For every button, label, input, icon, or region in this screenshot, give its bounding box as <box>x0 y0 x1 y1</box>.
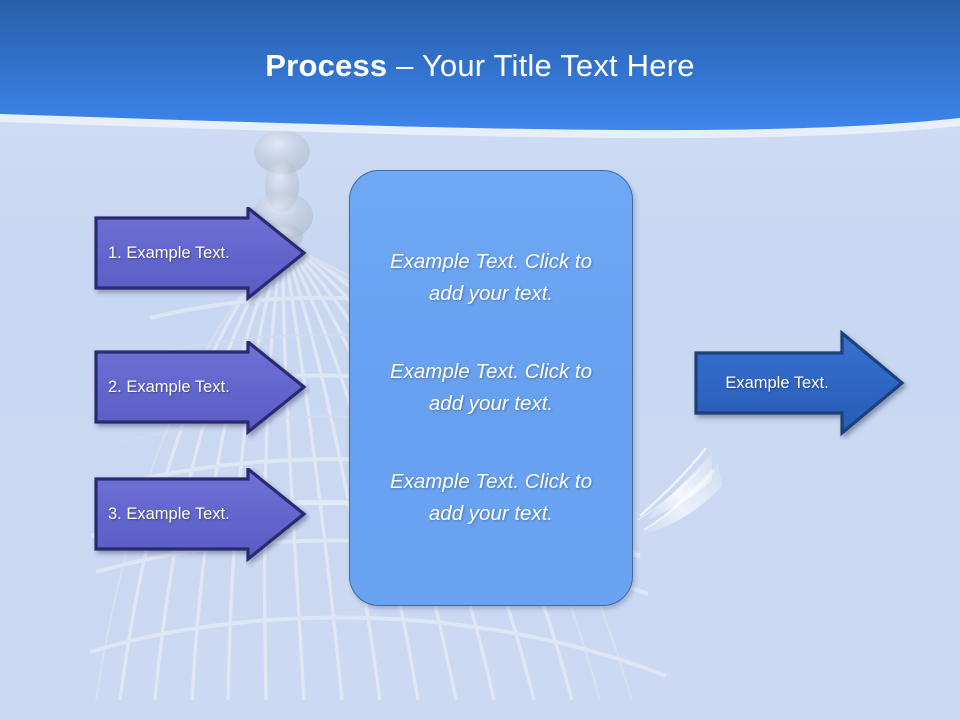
process-arrow-result[interactable]: Example Text. <box>690 330 910 440</box>
slide-canvas: Process – Your Title Text Here 1. Ex <box>0 0 960 720</box>
arrow-right-icon <box>90 207 310 307</box>
center-content-box[interactable] <box>349 170 633 606</box>
arrow-right-icon <box>90 341 310 441</box>
process-arrow-1[interactable]: 1. Example Text. <box>90 207 310 307</box>
process-arrow-2[interactable]: 2. Example Text. <box>90 341 310 441</box>
process-arrow-3[interactable]: 3. Example Text. <box>90 468 310 568</box>
arrow-right-icon <box>690 330 910 440</box>
arrow-right-icon <box>90 468 310 568</box>
